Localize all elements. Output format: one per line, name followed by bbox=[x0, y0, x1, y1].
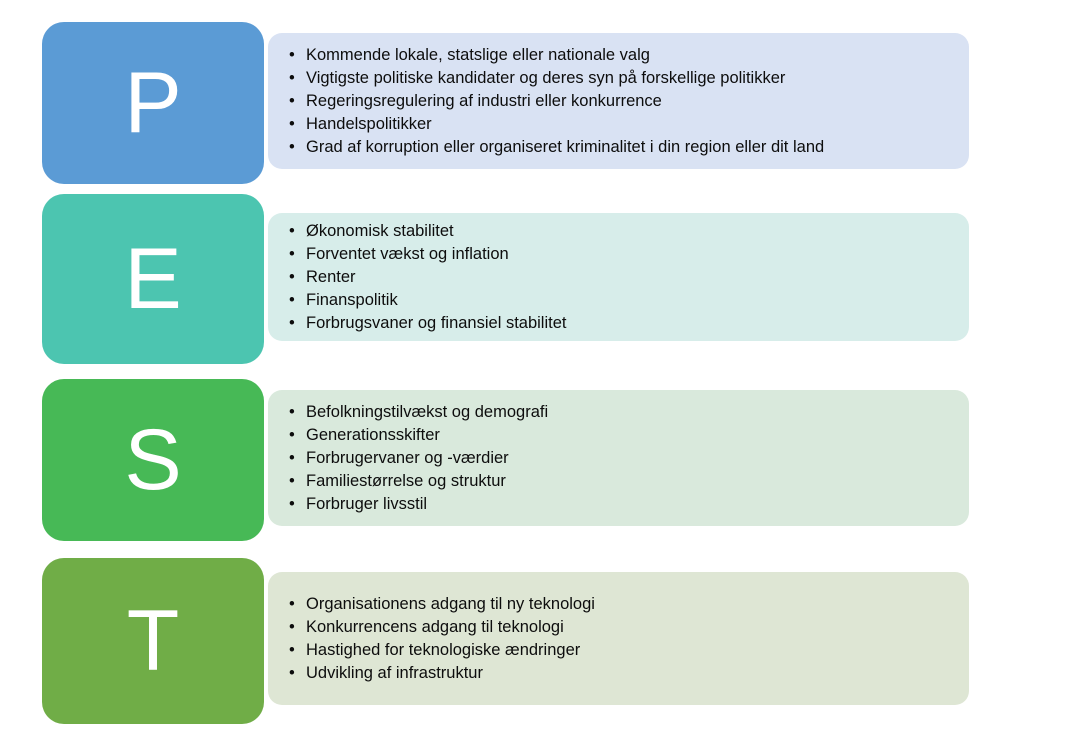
list-item: Renter bbox=[281, 266, 951, 289]
pest-letter-tile-political: P bbox=[42, 22, 264, 184]
pest-panel-political: Kommende lokale, statslige eller nationa… bbox=[268, 33, 969, 169]
list-item: Familiestørrelse og struktur bbox=[281, 470, 951, 493]
list-item: Forventet vækst og inflation bbox=[281, 243, 951, 266]
list-item: Regeringsregulering af industri eller ko… bbox=[281, 90, 951, 113]
list-item: Organisationens adgang til ny teknologi bbox=[281, 593, 951, 616]
pest-letter-political: P bbox=[124, 60, 181, 146]
pest-letter-technological: T bbox=[127, 598, 180, 684]
list-item: Forbrugervaner og -værdier bbox=[281, 447, 951, 470]
list-item: Generationsskifter bbox=[281, 424, 951, 447]
list-item: Grad af korruption eller organiseret kri… bbox=[281, 136, 951, 159]
list-item: Forbrugsvaner og finansiel stabilitet bbox=[281, 312, 951, 335]
pest-panel-economic: Økonomisk stabilitet Forventet vækst og … bbox=[268, 213, 969, 341]
pest-panel-technological: Organisationens adgang til ny teknologi … bbox=[268, 572, 969, 705]
pest-letter-tile-economic: E bbox=[42, 194, 264, 364]
bullet-list-economic: Økonomisk stabilitet Forventet vækst og … bbox=[281, 220, 951, 335]
bullet-list-technological: Organisationens adgang til ny teknologi … bbox=[281, 593, 951, 685]
bullet-list-social: Befolkningstilvækst og demografi Generat… bbox=[281, 401, 951, 516]
pest-panel-social: Befolkningstilvækst og demografi Generat… bbox=[268, 390, 969, 526]
pest-analysis-diagram: P Kommende lokale, statslige eller natio… bbox=[0, 0, 1072, 739]
list-item: Finanspolitik bbox=[281, 289, 951, 312]
list-item: Hastighed for teknologiske ændringer bbox=[281, 639, 951, 662]
list-item: Konkurrencens adgang til teknologi bbox=[281, 616, 951, 639]
list-item: Udvikling af infrastruktur bbox=[281, 662, 951, 685]
list-item: Forbruger livsstil bbox=[281, 493, 951, 516]
list-item: Befolkningstilvækst og demografi bbox=[281, 401, 951, 424]
pest-letter-tile-social: S bbox=[42, 379, 264, 541]
pest-letter-social: S bbox=[124, 417, 181, 503]
list-item: Vigtigste politiske kandidater og deres … bbox=[281, 67, 951, 90]
bullet-list-political: Kommende lokale, statslige eller nationa… bbox=[281, 44, 951, 159]
list-item: Økonomisk stabilitet bbox=[281, 220, 951, 243]
list-item: Kommende lokale, statslige eller nationa… bbox=[281, 44, 951, 67]
list-item: Handelspolitikker bbox=[281, 113, 951, 136]
pest-letter-economic: E bbox=[124, 236, 181, 322]
pest-letter-tile-technological: T bbox=[42, 558, 264, 724]
